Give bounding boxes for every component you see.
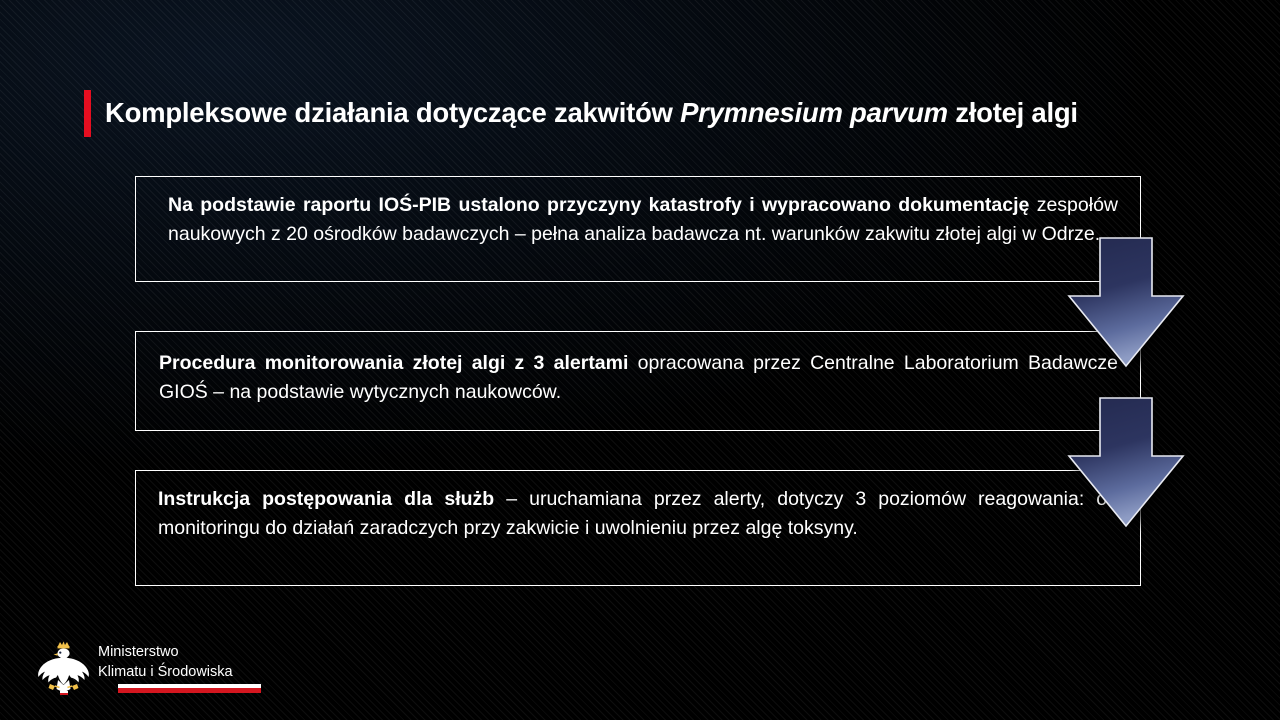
ministry-logo-text: Ministerstwo Klimatu i Środowiska [98, 643, 233, 682]
paragraph: Procedura monitorowania złotej algi z 3 … [159, 349, 1118, 407]
title-lead: Kompleksowe działania dotyczące zakwitów [105, 97, 680, 128]
flag-red-stripe [118, 688, 261, 693]
content-box-2-bold: Procedura monitorowania złotej algi z 3 … [159, 352, 628, 374]
paragraph: Instrukcja postępowania dla służb – uruc… [158, 485, 1118, 543]
content-box-3-bold: Instrukcja postępowania dla służb [158, 488, 494, 510]
title-tail: złotej algi [948, 97, 1078, 128]
content-box-3-text: Instrukcja postępowania dla służb – uruc… [136, 471, 1140, 543]
polish-flag-bar [118, 684, 261, 693]
ministry-logo: Ministerstwo Klimatu i Środowiska [36, 639, 228, 701]
presentation-slide: Kompleksowe działania dotyczące zakwitów… [0, 0, 1280, 720]
paragraph: Na podstawie raportu IOŚ-PIB ustalono pr… [168, 191, 1118, 249]
content-box-1-bold: Na podstawie raportu IOŚ-PIB ustalono pr… [168, 194, 1029, 216]
title-text: Kompleksowe działania dotyczące zakwitów… [105, 99, 1078, 127]
ministry-name-line-1: Ministerstwo [98, 643, 233, 663]
slide-title: Kompleksowe działania dotyczące zakwitów… [84, 88, 1078, 138]
ministry-name-line-2: Klimatu i Środowiska [98, 663, 233, 683]
title-species-name: Prymnesium parvum [680, 97, 948, 128]
content-box-2-text: Procedura monitorowania złotej algi z 3 … [136, 332, 1140, 407]
title-accent-bar [84, 90, 91, 137]
down-arrow-icon-2 [1067, 396, 1185, 528]
content-box-2: Procedura monitorowania złotej algi z 3 … [135, 331, 1141, 431]
content-box-1-text: Na podstawie raportu IOŚ-PIB ustalono pr… [136, 177, 1140, 249]
polish-eagle-icon [36, 639, 91, 696]
content-box-1: Na podstawie raportu IOŚ-PIB ustalono pr… [135, 176, 1141, 282]
content-box-3: Instrukcja postępowania dla służb – uruc… [135, 470, 1141, 586]
down-arrow-icon-1 [1067, 236, 1185, 368]
